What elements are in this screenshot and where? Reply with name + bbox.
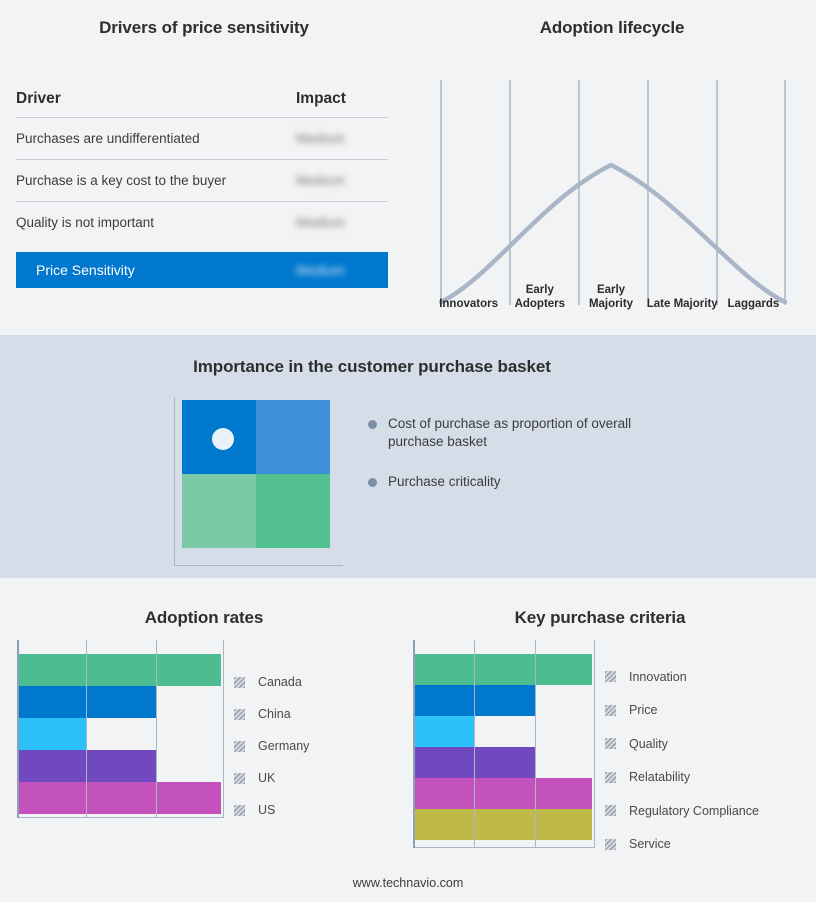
bar-series xyxy=(415,640,592,848)
driver-name: Purchases are undifferentiated xyxy=(16,131,296,146)
bar-row xyxy=(415,747,592,778)
legend-item: Relatability xyxy=(605,761,759,795)
gridline xyxy=(594,640,595,848)
x-axis-line xyxy=(19,817,223,818)
segment-label: Early Majority xyxy=(575,284,646,311)
legend-label: Price xyxy=(629,703,657,717)
matrix-quadrants xyxy=(182,400,330,548)
bar-us xyxy=(19,782,221,814)
adoption-rates-legend: CanadaChinaGermanyUKUS xyxy=(234,666,309,826)
key-purchase-criteria-legend: InnovationPriceQualityRelatabilityRegula… xyxy=(605,660,759,861)
legend-label: Purchase criticality xyxy=(388,473,501,491)
legend-label: Cost of purchase as proportion of overal… xyxy=(388,415,638,451)
legend-swatch-icon xyxy=(234,805,245,816)
key-purchase-criteria-title: Key purchase criteria xyxy=(400,608,800,628)
bar-row xyxy=(19,750,221,782)
segment-label: Innovators xyxy=(439,298,498,312)
bar-row xyxy=(19,686,221,718)
adoption-rates-bar-chart xyxy=(17,640,221,818)
price-sensitivity-summary-row: Price Sensitivity Medium xyxy=(16,252,388,288)
legend-item: Price xyxy=(605,694,759,728)
driver-impact-value: Medium xyxy=(296,215,388,230)
bar-row xyxy=(415,685,592,716)
driver-impact-value: Medium xyxy=(296,131,388,146)
key-purchase-criteria-panel: Key purchase criteria InnovationPriceQua… xyxy=(400,578,816,902)
drivers-table: Driver Impact Purchases are undifferenti… xyxy=(16,90,388,288)
lifecycle-segment-late-majority: Late Majority xyxy=(647,275,718,313)
legend-swatch-icon xyxy=(234,677,245,688)
bar-row xyxy=(19,718,221,750)
legend-item: Cost of purchase as proportion of overal… xyxy=(368,415,668,451)
legend-label: Service xyxy=(629,837,671,851)
plot-padding xyxy=(415,640,592,654)
legend-label: US xyxy=(258,803,275,817)
bar-row xyxy=(415,778,592,809)
legend-label: Relatability xyxy=(629,770,690,784)
lifecycle-segment-laggards: Laggards xyxy=(718,275,789,313)
bar-service xyxy=(415,809,592,840)
price-sensitivity-label: Price Sensitivity xyxy=(36,262,296,278)
bar-germany xyxy=(19,718,86,750)
drivers-table-header: Driver Impact xyxy=(16,90,388,117)
legend-label: Regulatory Compliance xyxy=(629,804,759,818)
matrix-quadrant-top-right xyxy=(256,400,330,474)
matrix-quadrant-bottom-right xyxy=(256,474,330,548)
matrix-quadrant-bottom-left xyxy=(182,474,256,548)
legend-item: US xyxy=(234,794,309,826)
price-sensitivity-impact-value: Medium xyxy=(296,263,388,278)
column-header-impact: Impact xyxy=(296,90,388,108)
bar-row xyxy=(415,654,592,685)
gridline xyxy=(156,640,157,818)
key-purchase-criteria-bar-chart xyxy=(413,640,592,848)
driver-impact-value: Medium xyxy=(296,173,388,188)
plot-padding xyxy=(19,640,221,654)
driver-name: Quality is not important xyxy=(16,215,296,230)
adoption-rates-panel: Adoption rates CanadaChinaGermanyUKUS xyxy=(0,578,408,902)
gridline xyxy=(86,640,87,818)
legend-swatch-icon xyxy=(234,773,245,784)
legend-item: UK xyxy=(234,762,309,794)
legend-swatch-icon xyxy=(234,709,245,720)
legend-label: UK xyxy=(258,771,275,785)
basket-legend: Cost of purchase as proportion of overal… xyxy=(368,415,668,513)
legend-label: Innovation xyxy=(629,670,687,684)
legend-item: China xyxy=(234,698,309,730)
bar-series xyxy=(19,640,221,818)
gridline xyxy=(535,640,536,848)
bar-row xyxy=(19,654,221,686)
bar-regulatory-compliance xyxy=(415,778,592,809)
driver-name: Purchase is a key cost to the buyer xyxy=(16,173,296,188)
purchase-basket-matrix-chart xyxy=(182,400,342,560)
column-header-driver: Driver xyxy=(16,90,296,108)
legend-item: Innovation xyxy=(605,660,759,694)
legend-swatch-icon xyxy=(605,671,616,682)
segment-label: Early Adopters xyxy=(504,284,575,311)
bar-canada xyxy=(19,654,221,686)
plot-area xyxy=(17,640,221,818)
legend-swatch-icon xyxy=(605,839,616,850)
table-row: Purchases are undifferentiated Medium xyxy=(16,118,388,159)
legend-item: Regulatory Compliance xyxy=(605,794,759,828)
plot-area xyxy=(413,640,592,848)
bar-row xyxy=(19,782,221,814)
bullet-icon xyxy=(368,478,377,487)
bar-china xyxy=(19,686,156,718)
segment-dividers xyxy=(441,80,785,305)
plot-padding xyxy=(415,840,592,850)
legend-item: Purchase criticality xyxy=(368,473,668,491)
bar-quality xyxy=(415,716,474,747)
lifecycle-segment-early-adopters: Early Adopters xyxy=(504,275,575,313)
gridline xyxy=(223,640,224,818)
legend-label: Quality xyxy=(629,737,668,751)
bullet-icon xyxy=(368,420,377,429)
lifecycle-segment-labels: Innovators Early Adopters Early Majority… xyxy=(433,275,789,313)
bar-innovation xyxy=(415,654,592,685)
lifecycle-panel-title: Adoption lifecycle xyxy=(408,18,816,38)
gridline xyxy=(474,640,475,848)
legend-item: Quality xyxy=(605,727,759,761)
adoption-rates-title: Adoption rates xyxy=(0,608,408,628)
drivers-of-price-sensitivity-panel: Drivers of price sensitivity Driver Impa… xyxy=(0,0,408,335)
segment-label: Laggards xyxy=(728,298,780,312)
legend-swatch-icon xyxy=(605,805,616,816)
bar-uk xyxy=(19,750,156,782)
drivers-panel-title: Drivers of price sensitivity xyxy=(0,18,408,38)
legend-item: Canada xyxy=(234,666,309,698)
importance-in-purchase-basket-panel: Importance in the customer purchase bask… xyxy=(0,335,816,578)
legend-swatch-icon xyxy=(605,772,616,783)
x-axis-line xyxy=(415,847,594,848)
matrix-quadrant-top-left xyxy=(182,400,256,474)
legend-label: Canada xyxy=(258,675,302,689)
legend-label: China xyxy=(258,707,291,721)
basket-panel-title: Importance in the customer purchase bask… xyxy=(0,357,744,377)
adoption-lifecycle-panel: Adoption lifecycle Innovators Early Adop… xyxy=(408,0,816,335)
legend-item: Service xyxy=(605,828,759,862)
table-row: Quality is not important Medium xyxy=(16,202,388,243)
legend-swatch-icon xyxy=(234,741,245,752)
table-row: Purchase is a key cost to the buyer Medi… xyxy=(16,160,388,201)
footer-website: www.technavio.com xyxy=(0,876,816,890)
lifecycle-segment-innovators: Innovators xyxy=(433,275,504,313)
legend-swatch-icon xyxy=(605,705,616,716)
legend-swatch-icon xyxy=(605,738,616,749)
matrix-position-marker xyxy=(212,428,234,450)
legend-label: Germany xyxy=(258,739,309,753)
segment-label: Late Majority xyxy=(647,298,718,312)
bar-row xyxy=(415,809,592,840)
legend-item: Germany xyxy=(234,730,309,762)
lifecycle-segment-early-majority: Early Majority xyxy=(575,275,646,313)
bar-row xyxy=(415,716,592,747)
